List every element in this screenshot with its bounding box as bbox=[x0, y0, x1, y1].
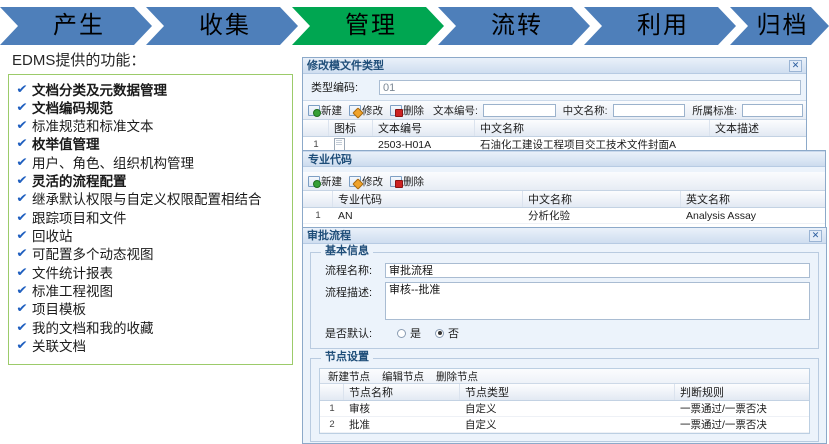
edit-node-button[interactable]: 编辑节点 bbox=[382, 369, 424, 384]
features-panel: EDMS提供的功能： ✔ 文档分类及元数据管理 ✔ 文档编码规范 ✔ 标准规范和… bbox=[8, 52, 293, 365]
new-icon bbox=[308, 176, 320, 187]
process-step-circulate[interactable]: 流转 bbox=[438, 7, 590, 45]
new-icon bbox=[308, 105, 320, 116]
feature-label: 灵活的流程配置 bbox=[32, 173, 288, 191]
node-action-bar: 新建节点 编辑节点 删除节点 bbox=[320, 369, 809, 384]
check-icon: ✔ bbox=[13, 191, 32, 207]
feature-label: 我的文档和我的收藏 bbox=[32, 320, 288, 338]
check-icon: ✔ bbox=[13, 283, 32, 299]
close-icon[interactable]: ✕ bbox=[809, 230, 822, 242]
col-node-type[interactable]: 节点类型 bbox=[460, 384, 675, 400]
cn-name-label: 中文名称: bbox=[563, 103, 608, 118]
cell-node-name: 批准 bbox=[344, 417, 460, 432]
radio-no-label: 否 bbox=[448, 325, 459, 341]
standard-label: 所属标准: bbox=[692, 103, 737, 118]
table-row[interactable]: 1 审核 自定义 一票通过/一票否决 bbox=[320, 401, 809, 417]
col-rownum[interactable] bbox=[303, 120, 329, 136]
feature-item: ✔ 用户、角色、组织机构管理 bbox=[13, 155, 288, 173]
feature-item: ✔ 标准工程视图 bbox=[13, 283, 288, 301]
feature-label: 标准工程视图 bbox=[32, 283, 288, 301]
cell-major-code: AN bbox=[333, 208, 523, 223]
col-en-name[interactable]: 英文名称 bbox=[681, 191, 825, 207]
process-step-label: 管理 bbox=[345, 14, 397, 38]
row-number: 1 bbox=[303, 208, 333, 223]
feature-label: 用户、角色、组织机构管理 bbox=[32, 155, 288, 173]
major-code-title: 专业代码 bbox=[303, 151, 825, 167]
radio-yes[interactable]: 是 bbox=[397, 325, 421, 341]
edit-button-label: 修改 bbox=[362, 103, 383, 118]
delete-icon bbox=[390, 105, 402, 116]
col-text-no[interactable]: 文本编号 bbox=[373, 120, 475, 136]
process-step-produce[interactable]: 产生 bbox=[0, 7, 152, 45]
feature-label: 回收站 bbox=[32, 228, 288, 246]
new-button[interactable]: 新建 bbox=[306, 174, 344, 189]
process-desc-textarea[interactable]: 审核--批准 bbox=[385, 282, 810, 320]
feature-item: ✔ 跟踪项目和文件 bbox=[13, 210, 288, 228]
cell-node-type: 自定义 bbox=[460, 417, 675, 432]
process-step-utilize[interactable]: 利用 bbox=[584, 7, 736, 45]
col-major-code[interactable]: 专业代码 bbox=[333, 191, 523, 207]
edit-icon bbox=[349, 176, 361, 187]
dialog-body: 类型编码: 01 新建 修改 删除 文本编号: bbox=[303, 74, 806, 153]
delete-node-button[interactable]: 删除节点 bbox=[436, 369, 478, 384]
cell-cn-name: 分析化验 bbox=[523, 208, 681, 223]
feature-label: 可配置多个动态视图 bbox=[32, 246, 288, 264]
cell-node-type: 自定义 bbox=[460, 401, 675, 416]
process-desc-label: 流程描述: bbox=[319, 282, 385, 300]
check-icon: ✔ bbox=[13, 100, 32, 116]
feature-label: 继承默认权限与自定义权限配置相结合 bbox=[32, 191, 288, 209]
feature-label: 文档编码规范 bbox=[32, 100, 288, 118]
process-step-label: 归档 bbox=[757, 14, 809, 38]
check-icon: ✔ bbox=[13, 246, 32, 262]
dialog-title-text: 修改模文件类型 bbox=[307, 58, 384, 74]
edit-button[interactable]: 修改 bbox=[347, 174, 385, 189]
cell-rule: 一票通过/一票否决 bbox=[675, 401, 809, 416]
delete-button[interactable]: 删除 bbox=[388, 174, 426, 189]
field-is-default: 是否默认: 是 否 bbox=[319, 325, 810, 341]
radio-no[interactable]: 否 bbox=[435, 325, 459, 341]
delete-button-label: 删除 bbox=[403, 103, 424, 118]
col-rule[interactable]: 判断规则 bbox=[675, 384, 809, 400]
check-icon: ✔ bbox=[13, 210, 32, 226]
edit-button-label: 修改 bbox=[362, 174, 383, 189]
process-step-label: 利用 bbox=[637, 14, 689, 38]
close-icon[interactable]: ✕ bbox=[789, 60, 802, 72]
radio-yes-icon[interactable] bbox=[397, 329, 406, 338]
standard-input[interactable] bbox=[742, 104, 803, 117]
feature-label: 枚举值管理 bbox=[32, 136, 288, 154]
col-desc[interactable]: 文本描述 bbox=[710, 120, 806, 136]
check-icon: ✔ bbox=[13, 228, 32, 244]
process-step-label: 收集 bbox=[199, 14, 251, 38]
edit-icon bbox=[349, 105, 361, 116]
dialog-approval-process: 审批流程 ✕ 基本信息 流程名称: 审批流程 流程描述: 审核--批准 是否默认… bbox=[302, 227, 827, 444]
check-icon: ✔ bbox=[13, 82, 32, 98]
row-number: 2 bbox=[320, 417, 344, 432]
col-rownum[interactable] bbox=[320, 384, 344, 400]
table-row[interactable]: 2 批准 自定义 一票通过/一票否决 bbox=[320, 417, 809, 433]
check-icon: ✔ bbox=[13, 301, 32, 317]
new-button[interactable]: 新建 bbox=[306, 103, 344, 118]
check-icon: ✔ bbox=[13, 320, 32, 336]
row-number: 1 bbox=[320, 401, 344, 416]
process-step-manage[interactable]: 管理 bbox=[292, 7, 444, 45]
dialog-body: 基本信息 流程名称: 审批流程 流程描述: 审核--批准 是否默认: 是 bbox=[303, 244, 826, 443]
check-icon: ✔ bbox=[13, 136, 32, 152]
process-chevron-bar: 产生 收集 管理 流转 利用 归档 bbox=[0, 7, 829, 45]
text-no-label: 文本编号: bbox=[433, 103, 478, 118]
cell-rule: 一票通过/一票否决 bbox=[675, 417, 809, 432]
file-type-grid-header: 图标 文本编号 中文名称 文本描述 bbox=[303, 120, 806, 137]
type-code-input[interactable]: 01 bbox=[379, 80, 801, 95]
feature-item: ✔ 标准规范和标准文本 bbox=[13, 118, 288, 136]
check-icon: ✔ bbox=[13, 173, 32, 189]
field-process-desc: 流程描述: 审核--批准 bbox=[319, 282, 810, 320]
process-name-input[interactable]: 审批流程 bbox=[385, 263, 810, 278]
node-grid-header: 节点名称 节点类型 判断规则 bbox=[320, 384, 809, 401]
process-name-label: 流程名称: bbox=[319, 262, 385, 278]
new-button-label: 新建 bbox=[321, 174, 342, 189]
dialog-title-text: 审批流程 bbox=[307, 228, 351, 244]
feature-item: ✔ 继承默认权限与自定义权限配置相结合 bbox=[13, 191, 288, 209]
col-rownum[interactable] bbox=[303, 191, 333, 207]
col-cn-name[interactable]: 中文名称 bbox=[523, 191, 681, 207]
feature-label: 关联文档 bbox=[32, 338, 288, 356]
check-icon: ✔ bbox=[13, 338, 32, 354]
dialog-title-bar: 修改模文件类型 ✕ bbox=[303, 58, 806, 74]
feature-list-box: ✔ 文档分类及元数据管理 ✔ 文档编码规范 ✔ 标准规范和标准文本 ✔ 枚举值管… bbox=[8, 74, 293, 365]
edit-button[interactable]: 修改 bbox=[347, 103, 385, 118]
feature-item: ✔ 我的文档和我的收藏 bbox=[13, 320, 288, 338]
feature-label: 项目模板 bbox=[32, 301, 288, 319]
dialog-file-type: 修改模文件类型 ✕ 类型编码: 01 新建 修改 bbox=[302, 57, 807, 159]
process-step-collect[interactable]: 收集 bbox=[146, 7, 298, 45]
cell-node-name: 审核 bbox=[344, 401, 460, 416]
type-code-label: 类型编码: bbox=[311, 79, 379, 95]
delete-button-label: 删除 bbox=[403, 174, 424, 189]
feature-item: ✔ 灵活的流程配置 bbox=[13, 173, 288, 191]
file-type-toolbar: 新建 修改 删除 文本编号: 中文名称: 所属标准: bbox=[303, 101, 806, 120]
feature-label: 文件统计报表 bbox=[32, 265, 288, 283]
cn-name-input[interactable] bbox=[613, 104, 686, 117]
group-legend: 基本信息 bbox=[321, 246, 373, 257]
new-node-button[interactable]: 新建节点 bbox=[328, 369, 370, 384]
radio-yes-label: 是 bbox=[410, 325, 421, 341]
table-row[interactable]: 1 AN 分析化验 Analysis Assay bbox=[303, 208, 825, 224]
col-node-name[interactable]: 节点名称 bbox=[344, 384, 460, 400]
group-legend: 节点设置 bbox=[321, 352, 373, 363]
delete-button[interactable]: 删除 bbox=[388, 103, 426, 118]
check-icon: ✔ bbox=[13, 155, 32, 171]
delete-icon bbox=[390, 176, 402, 187]
feature-item: ✔ 可配置多个动态视图 bbox=[13, 246, 288, 264]
major-code-toolbar: 新建 修改 删除 bbox=[303, 172, 825, 191]
group-node-settings: 节点设置 新建节点 编辑节点 删除节点 节点名称 节点类型 判断规则 1 bbox=[310, 358, 819, 442]
feature-item: ✔ 枚举值管理 bbox=[13, 136, 288, 154]
edms-caption: EDMS提供的功能： bbox=[12, 52, 293, 70]
major-code-body: 新建 修改 删除 专业代码 中文名称 英文名称 1 AN bbox=[303, 167, 825, 224]
feature-item: ✔ 文件统计报表 bbox=[13, 265, 288, 283]
text-no-input[interactable] bbox=[483, 104, 556, 117]
col-cn-name[interactable]: 中文名称 bbox=[475, 120, 710, 136]
is-default-label: 是否默认: bbox=[319, 325, 385, 341]
group-basic-info: 基本信息 流程名称: 审批流程 流程描述: 审核--批准 是否默认: 是 bbox=[310, 252, 819, 349]
col-icon[interactable]: 图标 bbox=[329, 120, 373, 136]
field-process-name: 流程名称: 审批流程 bbox=[319, 262, 810, 278]
feature-label: 文档分类及元数据管理 bbox=[32, 82, 288, 100]
feature-item: ✔ 关联文档 bbox=[13, 338, 288, 356]
feature-label: 跟踪项目和文件 bbox=[32, 210, 288, 228]
screenshot-root: 产生 收集 管理 流转 利用 归档 EDMS提供的功能： ✔ 文档分类及元数据管… bbox=[0, 0, 829, 444]
feature-item: ✔ 回收站 bbox=[13, 228, 288, 246]
feature-label: 标准规范和标准文本 bbox=[32, 118, 288, 136]
cell-en-name: Analysis Assay bbox=[681, 208, 825, 223]
radio-no-icon[interactable] bbox=[435, 329, 444, 338]
process-step-label: 流转 bbox=[491, 14, 543, 38]
feature-item: ✔ 项目模板 bbox=[13, 301, 288, 319]
process-step-label: 产生 bbox=[53, 14, 105, 38]
dialog-title-bar: 审批流程 ✕ bbox=[303, 228, 826, 244]
major-code-grid-header: 专业代码 中文名称 英文名称 bbox=[303, 191, 825, 208]
feature-item: ✔ 文档分类及元数据管理 bbox=[13, 82, 288, 100]
check-icon: ✔ bbox=[13, 265, 32, 281]
new-button-label: 新建 bbox=[321, 103, 342, 118]
feature-item: ✔ 文档编码规范 bbox=[13, 100, 288, 118]
check-icon: ✔ bbox=[13, 118, 32, 134]
panel-major-code: 专业代码 新建 修改 删除 专业代码 中文名称 bbox=[302, 150, 826, 235]
process-step-archive[interactable]: 归档 bbox=[730, 7, 829, 45]
